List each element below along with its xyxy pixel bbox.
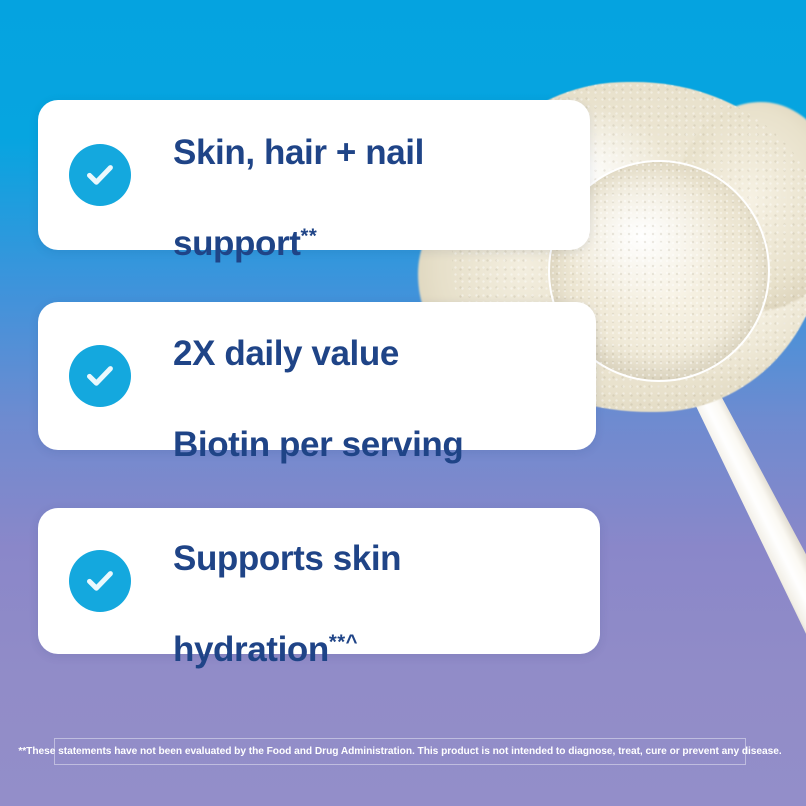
benefit-card-1-line1: Skin, hair + nail (173, 133, 424, 172)
benefit-card-3-text: Supports skin hydration**^ (173, 490, 401, 672)
benefit-card-2-text: 2X daily value Biotin per serving (173, 285, 463, 467)
fda-disclaimer-text: **These statements have not been evaluat… (18, 746, 781, 757)
benefit-card-3: Supports skin hydration**^ (38, 508, 600, 654)
benefit-card-3-line1: Supports skin (173, 539, 401, 578)
benefit-card-1-line2: support (173, 224, 300, 263)
benefit-card-2-line2: Biotin per serving (173, 425, 463, 464)
benefit-card-1-footnote-marker: ** (300, 225, 317, 247)
scoop-handle (637, 290, 806, 806)
benefit-card-1: Skin, hair + nail support** (38, 100, 590, 250)
benefit-card-3-footnote-marker: **^ (329, 631, 358, 653)
benefit-card-1-text: Skin, hair + nail support** (173, 84, 424, 266)
benefit-card-2-line1: 2X daily value (173, 334, 399, 373)
check-circle-icon (69, 550, 131, 612)
benefit-card-2: 2X daily value Biotin per serving (38, 302, 596, 450)
check-circle-icon (69, 345, 131, 407)
product-benefits-graphic: Skin, hair + nail support** 2X daily val… (0, 0, 806, 806)
check-circle-icon (69, 144, 131, 206)
fda-disclaimer: **These statements have not been evaluat… (54, 738, 746, 765)
benefit-card-3-line2: hydration (173, 630, 329, 669)
